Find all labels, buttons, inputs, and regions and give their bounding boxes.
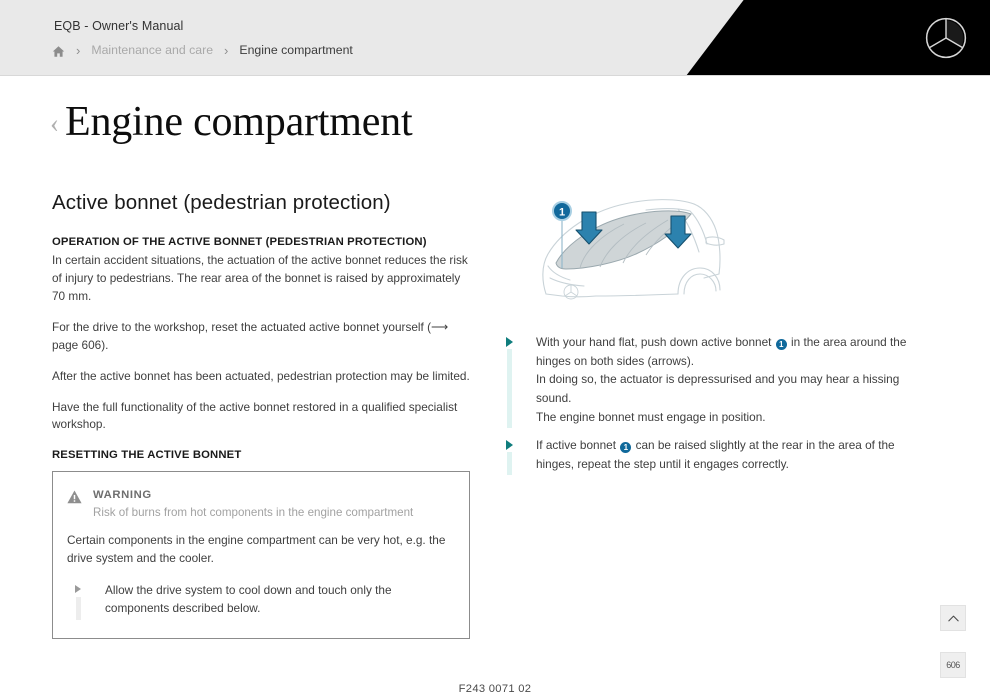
home-icon[interactable] xyxy=(52,45,65,58)
image-code-caption: F243 0071 02 xyxy=(0,683,990,695)
inline-callout-marker: 1 xyxy=(620,442,631,453)
callout-marker-1: 1 xyxy=(553,202,571,220)
svg-text:1: 1 xyxy=(559,207,565,219)
instruction-bullet-1: With your hand flat, push down active bo… xyxy=(502,333,932,426)
manual-page: EQB - Owner's Manual › Maintenance and c… xyxy=(0,0,990,700)
instruction-line-2: In doing so, the actuator is depressuris… xyxy=(536,370,932,407)
instruction-line-1: With your hand flat, push down active bo… xyxy=(536,333,932,370)
breadcrumb: › Maintenance and care › Engine compartm… xyxy=(52,41,353,59)
left-content-column: Active bonnet (pedestrian protection) OP… xyxy=(52,190,470,639)
warning-box: WARNING Risk of burns from hot component… xyxy=(52,471,470,638)
manual-title: EQB - Owner's Manual xyxy=(54,19,183,33)
page-glyph-icon: 606 xyxy=(946,660,960,671)
warning-bullet-item: Allow the drive system to cool down and … xyxy=(67,582,451,620)
scroll-to-top-button[interactable] xyxy=(940,605,966,631)
chevron-up-icon xyxy=(948,615,959,622)
bullet-arrow-icon xyxy=(502,333,536,426)
app-header: EQB - Owner's Manual › Maintenance and c… xyxy=(0,0,990,76)
warning-subtitle: Risk of burns from hot components in the… xyxy=(93,505,451,522)
subheading-resetting: RESETTING THE ACTIVE BONNET xyxy=(52,449,470,461)
warning-bullet-text: Allow the drive system to cool down and … xyxy=(105,582,451,618)
car-bonnet-diagram: 1 xyxy=(528,186,743,308)
paragraph-3: After the active bonnet has been actuate… xyxy=(52,368,470,386)
right-content-column: 1 With your hand flat, push down active … xyxy=(502,186,932,483)
inline-callout-marker: 1 xyxy=(776,339,787,350)
breadcrumb-item-engine-compartment[interactable]: Engine compartment xyxy=(239,43,352,57)
instruction-bullet-1-text: With your hand flat, push down active bo… xyxy=(536,333,932,426)
breadcrumb-item-maintenance-and-care[interactable]: Maintenance and care xyxy=(91,43,213,57)
back-chevron-icon[interactable]: ‹ xyxy=(50,110,59,137)
page-title-row: ‹ Engine compartment xyxy=(50,100,412,144)
section-title: Active bonnet (pedestrian protection) xyxy=(52,190,470,216)
mercedes-benz-star-logo xyxy=(924,16,968,60)
page-title: Engine compartment xyxy=(65,100,412,144)
warning-header: WARNING Risk of burns from hot component… xyxy=(67,488,451,521)
bullet-arrow-icon xyxy=(67,582,105,620)
paragraph-4: Have the full functionality of the activ… xyxy=(52,399,470,435)
instruction-bullet-2-text: If active bonnet 1 can be raised slightl… xyxy=(536,436,932,473)
paragraph-1: In certain accident situations, the actu… xyxy=(52,252,470,306)
breadcrumb-separator-1: › xyxy=(76,44,80,57)
paragraph-2: For the drive to the workshop, reset the… xyxy=(52,319,470,355)
warning-triangle-icon xyxy=(67,490,82,504)
instruction-bullet-2: If active bonnet 1 can be raised slightl… xyxy=(502,436,932,473)
warning-label: WARNING xyxy=(93,488,451,503)
subheading-operation: OPERATION OF THE ACTIVE BONNET (PEDESTRI… xyxy=(52,234,470,250)
breadcrumb-separator-2: › xyxy=(224,44,228,57)
instruction-line-4: If active bonnet 1 can be raised slightl… xyxy=(536,436,932,473)
instruction-line-3: The engine bonnet must engage in positio… xyxy=(536,408,932,427)
warning-body-text: Certain components in the engine compart… xyxy=(67,532,451,568)
page-number-button[interactable]: 606 xyxy=(940,652,966,678)
bullet-arrow-icon xyxy=(502,436,536,473)
